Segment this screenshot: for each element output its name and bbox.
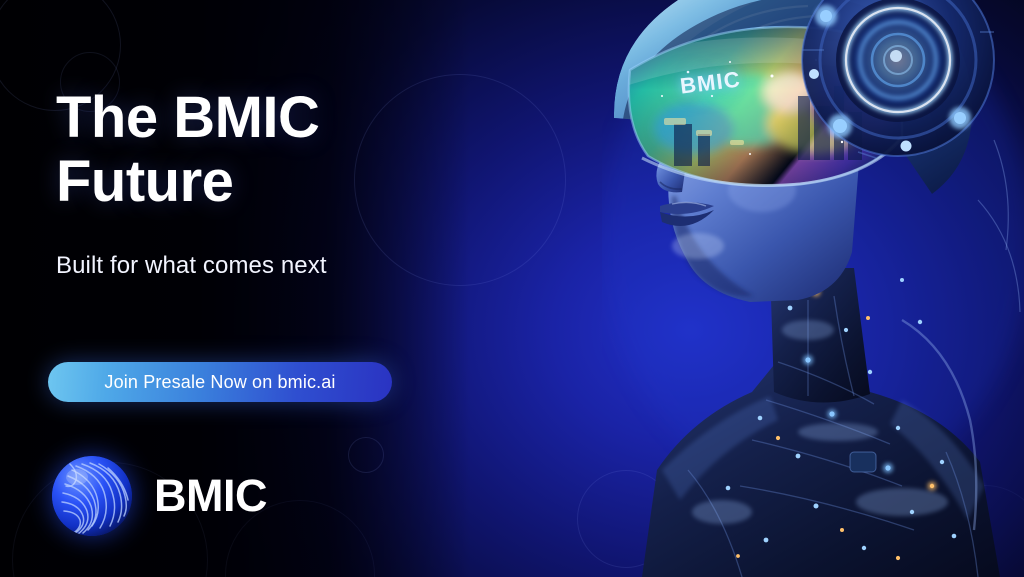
figure-vr-woman — [602, 0, 1024, 577]
hero-subheadline: Built for what comes next — [56, 250, 376, 282]
brand-lockup: BMIC — [52, 456, 267, 536]
headline-line-1: The BMIC — [56, 85, 319, 150]
hero-banner: BMIC The BMIC Future Built for what come… — [0, 0, 1024, 577]
headline-line-2: Future — [56, 149, 233, 214]
hero-content: The BMIC Future Built for what comes nex… — [56, 0, 476, 577]
bmic-sphere-icon — [52, 456, 132, 536]
brand-wordmark: BMIC — [154, 470, 267, 522]
page-title: The BMIC Future — [56, 86, 416, 215]
join-presale-button[interactable]: Join Presale Now on bmic.ai — [48, 362, 392, 402]
